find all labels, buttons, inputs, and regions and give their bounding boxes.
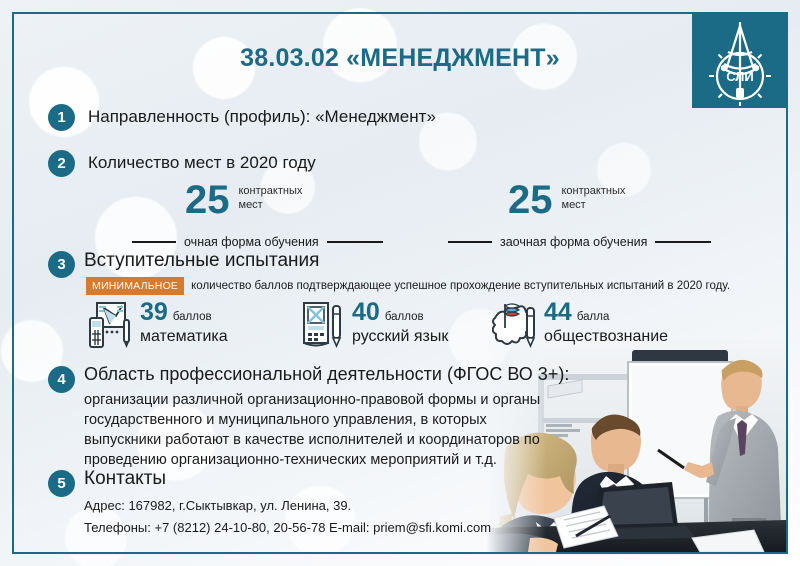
contacts-block: Адрес: 167982, г.Сыктывкар, ул. Ленина, …: [84, 495, 491, 539]
seats-parttime-form-rule: заочная форма обучения: [448, 235, 711, 249]
minimum-score-line: МИНИМАЛЬНОЕ количество баллов подтвержда…: [86, 277, 730, 295]
poster-root: 38.03.02 «МЕНЕДЖМЕНТ» СЛИ: [0, 0, 800, 566]
contacts-phones: Телефоны: +7 (8212) 24-10-80, 20-56-78 E…: [84, 517, 491, 539]
section-heading-1: Направленность (профиль): «Менеджмент»: [88, 107, 436, 127]
seats-block: 25 контрактных мест очная форма обучения…: [0, 182, 800, 242]
subject-russian-unit: баллов: [385, 311, 424, 323]
subject-social: 44балла обществознание: [492, 300, 668, 350]
seats-fulltime-count: 25: [185, 182, 230, 218]
section-heading-2: Количество мест в 2020 году: [88, 153, 316, 173]
rule-line-left: [448, 241, 492, 243]
logo-letters: СЛИ: [726, 69, 754, 84]
seats-parttime-count: 25: [508, 182, 553, 218]
seats-fulltime-unit-1: контрактных: [239, 185, 303, 197]
book-pencil-icon: [300, 300, 346, 350]
sfi-emblem-logo: СЛИ: [692, 12, 788, 108]
subject-russian: 40баллов русский язык: [300, 300, 448, 350]
contacts-address: Адрес: 167982, г.Сыктывкар, ул. Ленина, …: [84, 495, 491, 517]
section-number-1: 1: [48, 104, 75, 131]
section-heading-3: Вступительные испытания: [84, 250, 319, 272]
seats-fulltime-form: очная форма обучения: [184, 235, 319, 249]
section-heading-5: Контакты: [84, 468, 166, 490]
subject-russian-score: 40: [352, 300, 380, 325]
minimum-badge-text: количество баллов подтверждающее успешно…: [191, 280, 730, 292]
subject-math: 39баллов математика: [88, 300, 228, 350]
subject-math-name: математика: [140, 328, 228, 346]
math-board-calculator-icon: [88, 300, 134, 350]
seats-parttime-form: заочная форма обучения: [500, 235, 647, 249]
russia-map-flag-pencil-icon: [492, 300, 538, 350]
subject-math-unit: баллов: [173, 311, 212, 323]
subject-social-score: 44: [544, 300, 572, 325]
rule-line-left: [132, 241, 176, 243]
minimum-badge: МИНИМАЛЬНОЕ: [86, 277, 184, 295]
subjects-block: 39баллов математика 40баллов: [88, 300, 748, 356]
subject-social-name: обществознание: [544, 328, 668, 346]
section-heading-4: Область профессиональной деятельности (Ф…: [84, 364, 569, 385]
seats-parttime: 25 контрактных мест: [508, 182, 625, 218]
rule-line-right: [655, 241, 711, 243]
seats-fulltime-form-rule: очная форма обучения: [132, 235, 383, 249]
seats-fulltime: 25 контрактных мест: [185, 182, 302, 218]
subject-math-score: 39: [140, 300, 168, 325]
section-number-4: 4: [48, 366, 75, 393]
subject-social-unit: балла: [577, 311, 610, 323]
section-number-2: 2: [48, 150, 75, 177]
page-title: 38.03.02 «МЕНЕДЖМЕНТ»: [0, 44, 800, 73]
subject-russian-name: русский язык: [352, 328, 448, 346]
seats-parttime-unit-1: контрактных: [562, 185, 626, 197]
section-number-3: 3: [48, 251, 75, 278]
section-body-4: организации различной организационно-пра…: [84, 390, 554, 470]
seats-parttime-unit-2: мест: [562, 199, 586, 211]
rule-line-right: [327, 241, 383, 243]
seats-fulltime-unit-2: мест: [239, 199, 263, 211]
section-number-5: 5: [48, 470, 75, 497]
